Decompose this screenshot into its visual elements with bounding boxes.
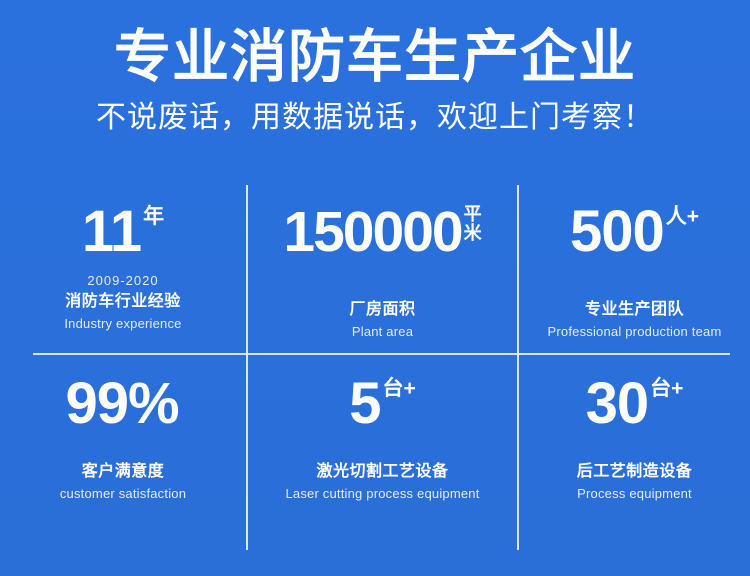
stat-label-cn: 厂房面积	[248, 299, 517, 321]
stats-grid: 11 年 2009-2020 消防车行业经验 Industry experien…	[0, 185, 750, 550]
stat-cell-laser-cutting-equipment: 5 台+ 激光切割工艺设备 Laser cutting process equi…	[248, 357, 517, 550]
stat-unit: 人+	[666, 206, 699, 227]
stat-value-row: 150000 平 米	[248, 203, 517, 261]
stat-label-cn: 激光切割工艺设备	[248, 461, 517, 483]
stat-label-cn: 消防车行业经验	[0, 291, 246, 313]
stat-unit: 年	[143, 206, 164, 227]
stat-value: 30	[586, 375, 649, 433]
stat-cell-plant-area: 150000 平 米 厂房面积 Plant area	[248, 185, 517, 353]
stat-label-cn: 后工艺制造设备	[519, 461, 750, 483]
stat-value-row: 500 人+	[519, 203, 750, 261]
banner-header: 专业消防车生产企业 不说废话，用数据说话，欢迎上门考察！	[0, 22, 750, 138]
stat-value: 5	[349, 375, 380, 433]
stat-cell-production-team: 500 人+ 专业生产团队 Professional production te…	[519, 185, 750, 353]
stat-value: 150000	[283, 203, 461, 261]
stat-unit: 平 米	[464, 205, 482, 243]
stat-value-row: 5 台+	[248, 375, 517, 433]
stat-label-en: customer satisfaction	[0, 485, 246, 503]
stat-label-en: Plant area	[248, 323, 517, 341]
stat-label-cn: 客户满意度	[0, 461, 246, 483]
stat-label-en: Industry experience	[0, 315, 246, 333]
stat-value-row: 99%	[0, 375, 246, 433]
page-subtitle: 不说废话，用数据说话，欢迎上门考察！	[0, 98, 750, 138]
stat-value: 99%	[65, 375, 178, 433]
stat-sublabel: 2009-2020	[0, 273, 246, 289]
stat-cell-industry-experience: 11 年 2009-2020 消防车行业经验 Industry experien…	[0, 185, 246, 353]
grid-divider-horizontal	[33, 353, 730, 355]
stat-label-en: Process equipment	[519, 485, 750, 503]
stat-value: 11	[82, 203, 141, 261]
stat-label-en: Professional production team	[519, 323, 750, 341]
promo-banner: 专业消防车生产企业 不说废话，用数据说话，欢迎上门考察！ 11 年 2009-2…	[0, 0, 750, 576]
page-title: 专业消防车生产企业	[0, 22, 750, 92]
stat-value-row: 30 台+	[519, 375, 750, 433]
stat-unit-bottom: 米	[464, 224, 482, 243]
stat-value-row: 11 年	[0, 203, 246, 261]
stat-cell-customer-satisfaction: 99% 客户满意度 customer satisfaction	[0, 357, 246, 550]
stat-unit: 台+	[383, 378, 416, 399]
stat-value: 500	[570, 203, 664, 261]
stat-label-cn: 专业生产团队	[519, 299, 750, 321]
stat-cell-process-equipment: 30 台+ 后工艺制造设备 Process equipment	[519, 357, 750, 550]
stat-unit-top: 平	[464, 205, 482, 224]
stat-unit: 台+	[650, 378, 683, 399]
stat-label-en: Laser cutting process equipment	[248, 485, 517, 503]
